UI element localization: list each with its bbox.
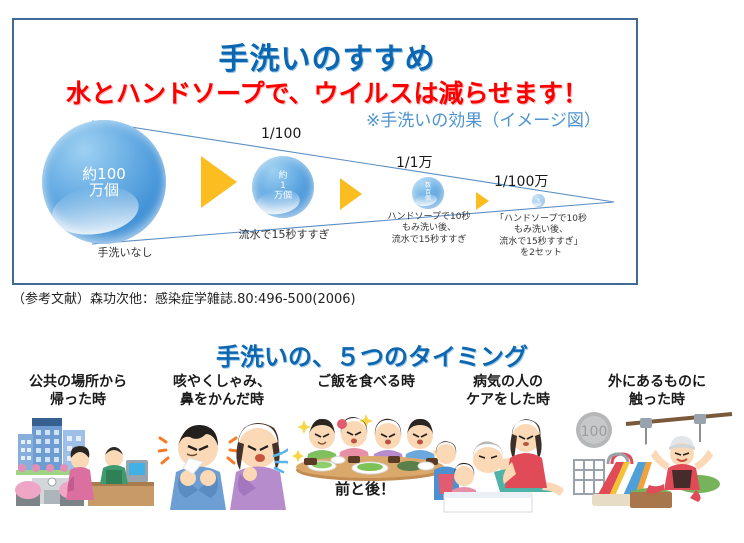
caption-line: を2セット: [520, 248, 562, 258]
timing-label-line: 病気の人の: [473, 374, 543, 390]
step-arrow-3-icon: [476, 192, 489, 210]
sneeze-cough-illustration: [158, 412, 288, 512]
step-caption-3: ハンドソープで10秒 もみ洗い後、 流水で15秒すすぎ: [369, 212, 489, 246]
timing-label-line: 帰った時: [50, 392, 106, 408]
caption-line: もみ洗い後、: [514, 225, 568, 235]
step-arrow-2-icon: [340, 178, 362, 210]
virus-bubble-step2: 約 1 万個: [252, 156, 314, 218]
timing-label-line: ご飯を食べる時: [317, 374, 415, 390]
step-caption-1: 手洗いなし: [70, 246, 180, 260]
bubble-label-step3: 数 百 個: [425, 183, 431, 202]
reference-citation: （参考文献）森功次他：感染症学雑誌.80:496-500(2006): [12, 288, 356, 307]
bubble-label-line: 個: [425, 195, 431, 202]
bubble-label-line: 約: [278, 171, 287, 181]
caregiving-illustration: [434, 408, 582, 516]
timing-label-line: 咳やくしゃみ、: [173, 374, 271, 390]
ratio-label-2: 1/1万: [396, 152, 433, 172]
virus-bubble-step3: 数 百 個: [412, 177, 444, 209]
meal-extra-note: 前と後！: [300, 478, 430, 499]
bubble-label-step4: 数: [537, 199, 540, 202]
virus-bubble-step4: 数: [532, 194, 545, 207]
svg-text:100: 100: [581, 424, 608, 440]
ratio-label-3: 1/100万: [494, 171, 548, 191]
bubble-label-step2: 約 1 万個: [274, 172, 292, 201]
city-shopping-illustration: [14, 408, 154, 518]
timing-label-4: 病気の人の ケアをした時: [438, 374, 578, 409]
bubble-label-line: 万個: [89, 181, 119, 199]
timing-label-5: 外にあるものに 触った時: [582, 374, 732, 409]
timing-label-line: 公共の場所から: [29, 374, 127, 390]
caption-line: 「ハンドソープで10秒: [495, 214, 587, 224]
effect-diagram-panel: 手洗いのすすめ 水とハンドソープで、ウイルスは減らせます！ ※手洗いの効果（イメ…: [12, 18, 638, 285]
caption-line: もみ洗い後、: [402, 223, 456, 233]
timings-heading: 手洗いの、５つのタイミング: [0, 337, 744, 372]
step-arrow-1-icon: [201, 156, 237, 208]
timing-label-line: 鼻をかんだ時: [180, 392, 264, 408]
step-caption-2: 流水で15秒すすぎ: [219, 228, 349, 242]
step-caption-4: 「ハンドソープで10秒 もみ洗い後、 流水で15秒すすぎ」 を2セット: [486, 214, 596, 259]
caption-line: ハンドソープで10秒: [388, 212, 471, 222]
timing-label-line: ケアをした時: [466, 392, 550, 408]
caption-line: 流水で15秒すすぎ」: [499, 237, 582, 247]
timing-label-1: 公共の場所から 帰った時: [8, 374, 148, 409]
family-meal-illustration: [292, 410, 452, 482]
bubble-label-step1: 約100 万個: [82, 166, 126, 198]
playground-illustration: 100: [572, 406, 737, 516]
ratio-label-1: 1/100: [261, 126, 301, 142]
bubble-label-line: 1: [280, 181, 286, 191]
caption-line: 流水で15秒すすぎ: [392, 235, 466, 245]
timing-label-2: 咳やくしゃみ、 鼻をかんだ時: [152, 374, 292, 409]
timing-label-3: ご飯を食べる時: [292, 374, 440, 392]
bubble-label-line: 万個: [274, 191, 292, 201]
timing-label-line: 外にあるものに: [608, 374, 706, 390]
virus-bubble-step1: 約100 万個: [42, 120, 166, 244]
